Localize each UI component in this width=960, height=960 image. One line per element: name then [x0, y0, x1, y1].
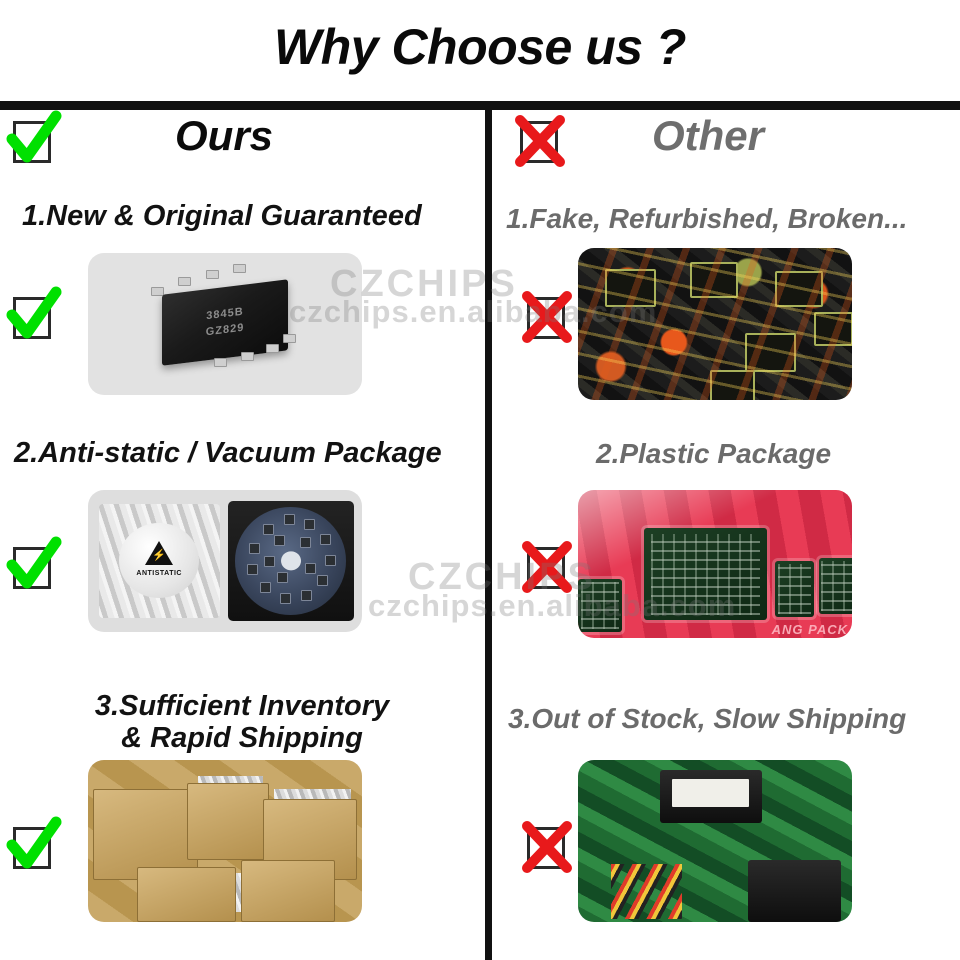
row-2-other-text: 2.Plastic Package	[596, 438, 831, 469]
lightning-bolt-icon: ⚡	[152, 551, 166, 562]
check-mark-header	[6, 112, 60, 166]
cross-mark-icon	[513, 112, 567, 166]
cross-mark-row-2	[520, 538, 574, 592]
check-mark-icon	[6, 818, 60, 872]
bag-print-text: ANG PACK	[772, 622, 848, 637]
cross-mark-icon	[520, 538, 574, 592]
row-3-ours-text: 3.Sufficient Inventory & Rapid Shipping	[62, 690, 422, 755]
scrap-chips-pile-photo	[578, 248, 852, 400]
check-mark-row-1	[6, 288, 60, 342]
inventory-boxes-photo	[88, 760, 362, 922]
antistatic-bag: ⚡ ANTISTATIC	[99, 504, 220, 618]
row-2-ours-text: 2.Anti-static / Vacuum Package	[14, 437, 442, 469]
ours-column-header: Ours	[0, 110, 485, 172]
cross-mark-row-3	[520, 818, 574, 872]
check-mark-row-3	[6, 818, 60, 872]
scrap-pcb-pile-photo	[578, 760, 852, 922]
ours-heading-label: Ours	[175, 112, 273, 160]
row-1-other-text: 1.Fake, Refurbished, Broken...	[506, 203, 907, 234]
chip-marking-line-2: GZ829	[206, 320, 245, 340]
page-title: Why Choose us ?	[0, 18, 960, 76]
reel-tray	[228, 501, 354, 620]
antistatic-vacuum-package-photo: ⚡ ANTISTATIC	[88, 490, 362, 632]
other-heading-label: Other	[652, 112, 764, 160]
check-mark-row-2	[6, 538, 60, 592]
column-divider	[485, 110, 492, 960]
check-mark-icon	[6, 538, 60, 592]
new-original-chip-photo: 3845B GZ829	[88, 253, 362, 395]
row-1-ours-text: 1.New & Original Guaranteed	[22, 200, 422, 232]
plastic-package-photo: ANG PACK	[578, 490, 852, 638]
cross-mark-row-1	[520, 288, 574, 342]
row-3-other-text: 3.Out of Stock, Slow Shipping	[508, 703, 906, 734]
antistatic-label: ANTISTATIC	[119, 570, 199, 577]
check-mark-icon	[6, 112, 60, 166]
why-choose-us-infographic: Why Choose us ? Ours Other	[0, 0, 960, 960]
header-divider	[0, 101, 960, 110]
cross-mark-icon	[520, 288, 574, 342]
cross-mark-header	[513, 112, 567, 166]
check-mark-icon	[6, 288, 60, 342]
cross-mark-icon	[520, 818, 574, 872]
